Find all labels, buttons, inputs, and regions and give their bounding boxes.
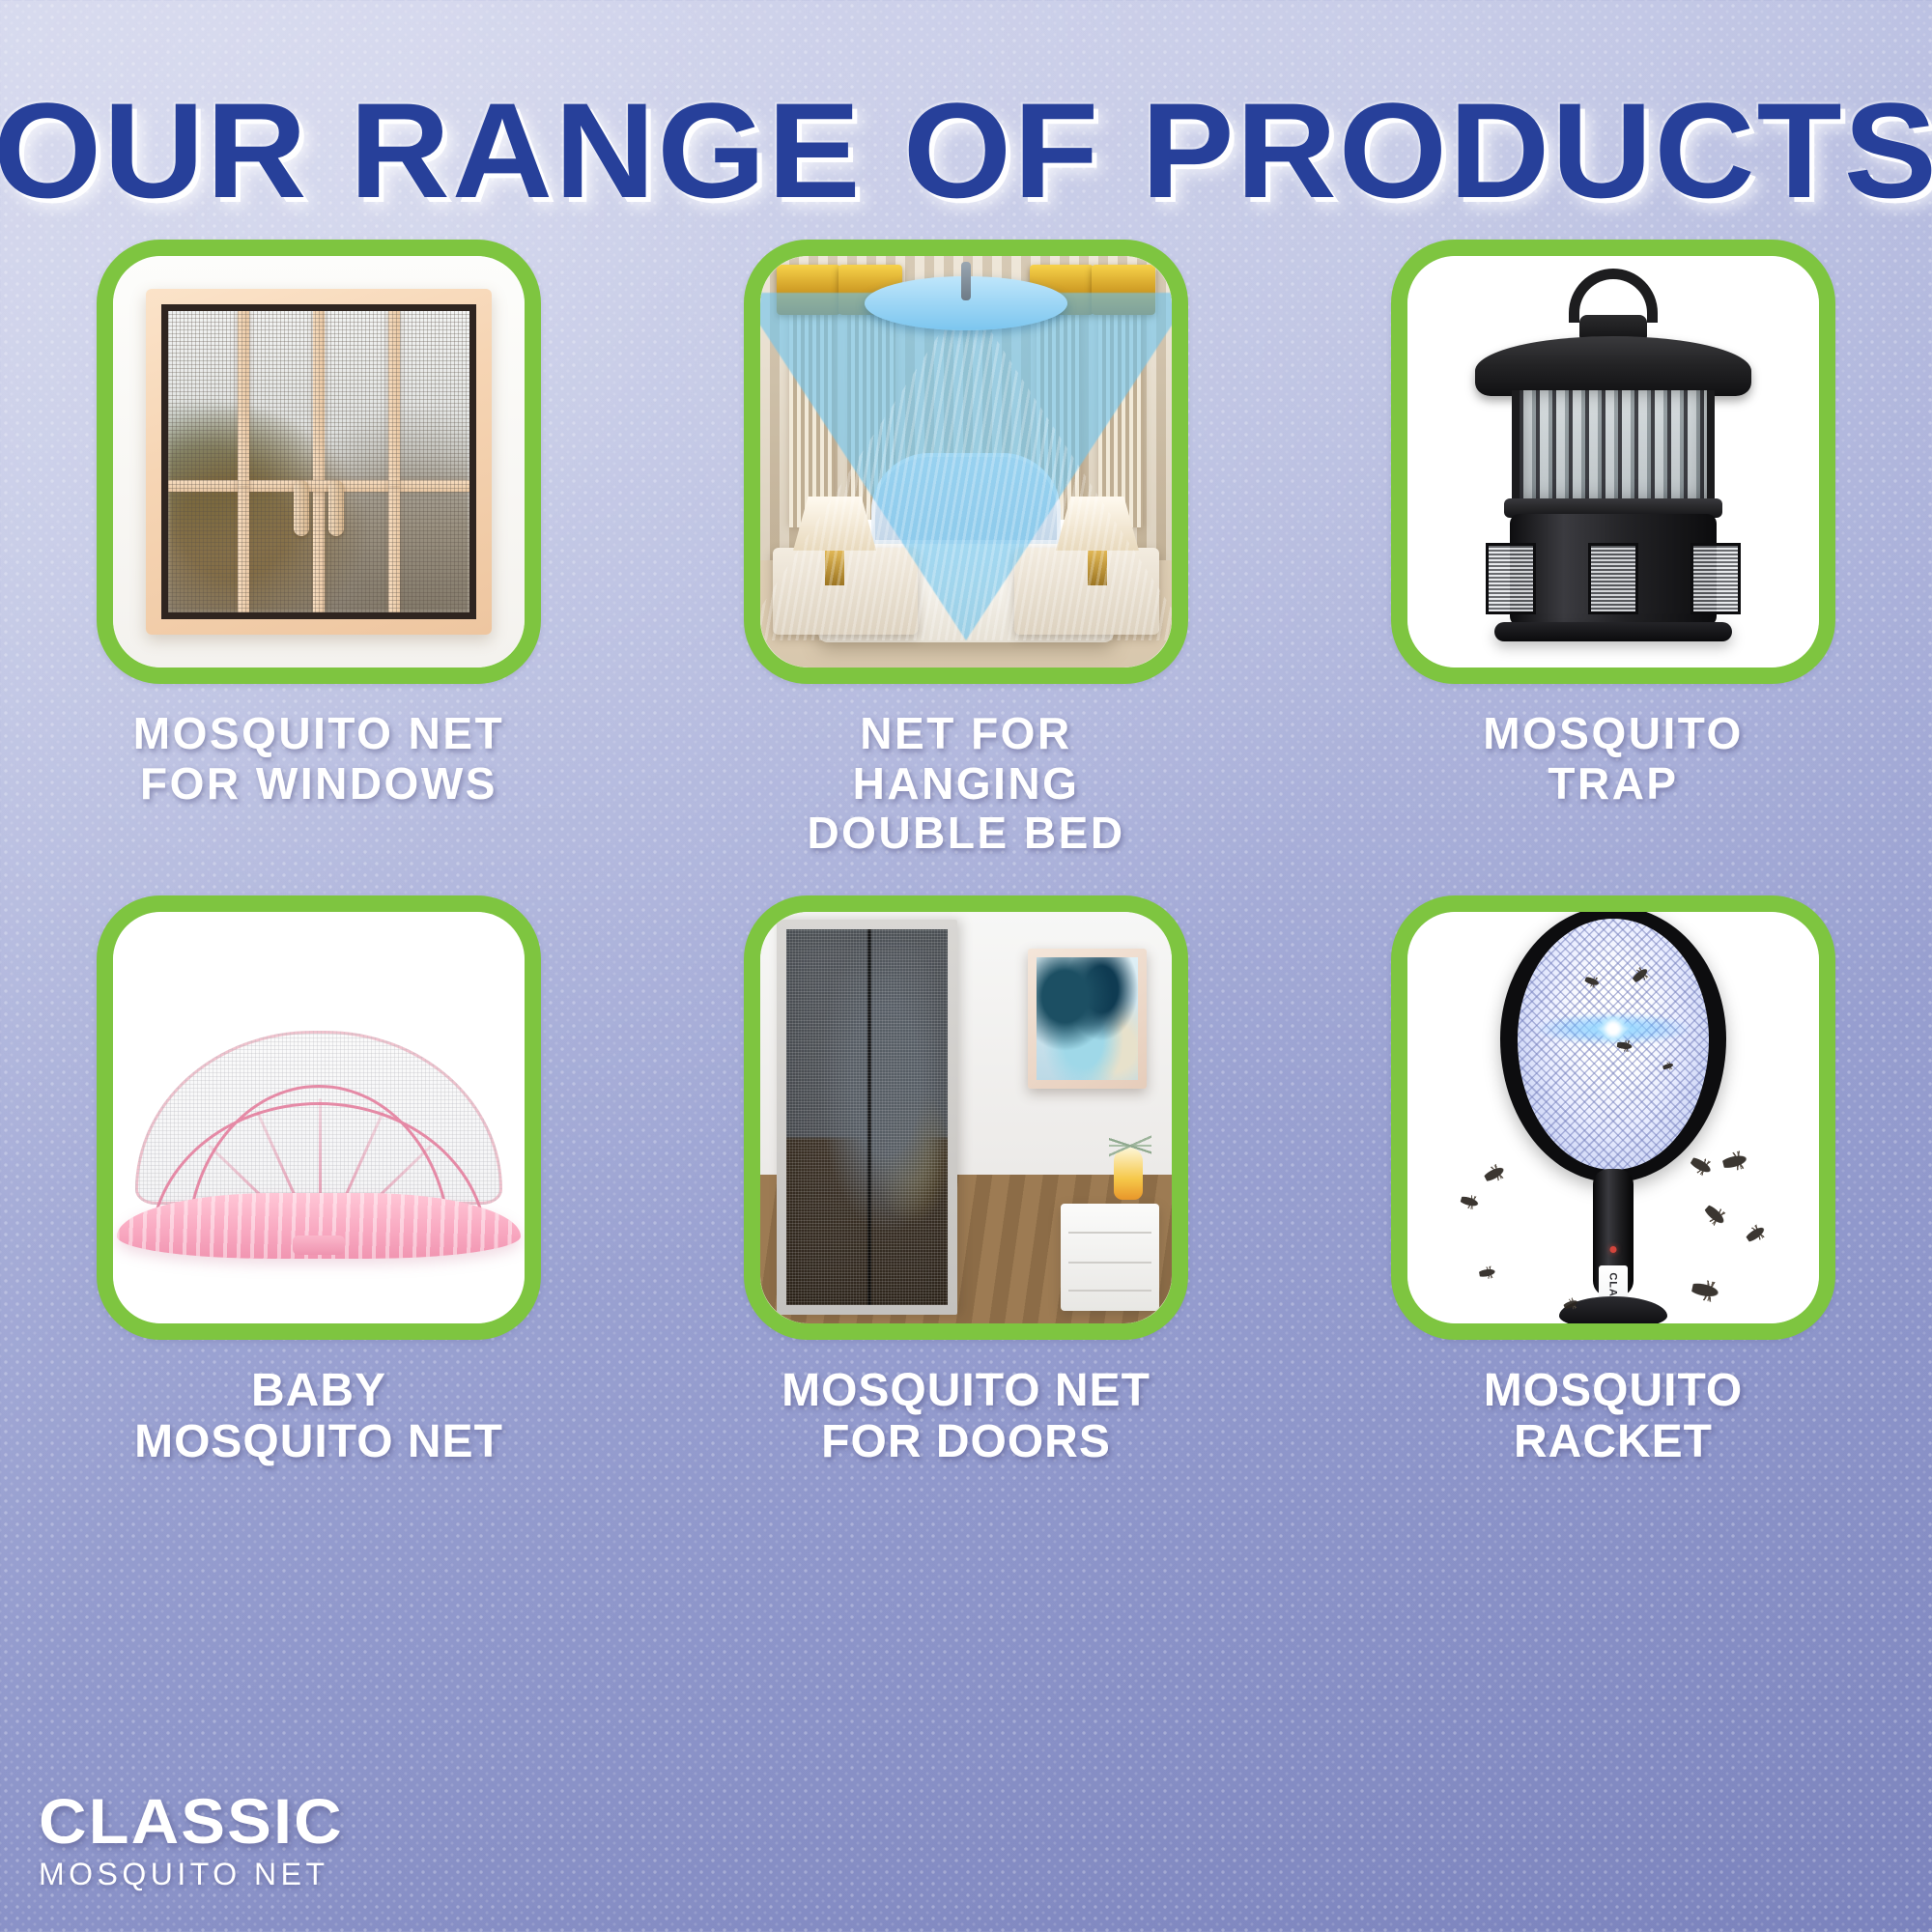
- product-card-racket[interactable]: CLASSIC: [1391, 895, 1835, 1340]
- product-image-window: [113, 256, 525, 668]
- baby-net-dome: [135, 1031, 502, 1253]
- product-row-2: BABY MOSQUITO NET: [97, 895, 1835, 1469]
- product-image-baby-net: [113, 912, 525, 1323]
- product-caption: MOSQUITO RACKET: [1484, 1365, 1743, 1469]
- product-caption: BABY MOSQUITO NET: [134, 1365, 503, 1469]
- product-image-hanging-bed: [760, 256, 1172, 668]
- product-caption: MOSQUITO NET FOR DOORS: [781, 1365, 1151, 1469]
- product-card-hanging-bed[interactable]: [744, 240, 1188, 684]
- product-caption: MOSQUITO TRAP: [1483, 709, 1744, 809]
- product-caption: MOSQUITO NET FOR WINDOWS: [133, 709, 504, 809]
- product-image-door-net: [760, 912, 1172, 1323]
- brand-logo: CLASSIC MOSQUITO NET: [39, 1789, 332, 1889]
- product-cell-racket[interactable]: CLASSIC: [1391, 895, 1835, 1469]
- product-card-trap[interactable]: [1391, 240, 1835, 684]
- product-card-window[interactable]: [97, 240, 541, 684]
- product-image-racket: CLASSIC: [1407, 912, 1819, 1323]
- product-cell-hanging-bed[interactable]: NET FOR HANGING DOUBLE BED: [744, 240, 1188, 859]
- product-image-trap: [1407, 256, 1819, 668]
- product-cell-window[interactable]: MOSQUITO NET FOR WINDOWS: [97, 240, 541, 859]
- page-title: OUR RANGE OF PRODUCTS: [0, 83, 1932, 218]
- product-cell-trap[interactable]: MOSQUITO TRAP: [1391, 240, 1835, 859]
- product-card-baby-net[interactable]: [97, 895, 541, 1340]
- product-cell-door-net[interactable]: MOSQUITO NET FOR DOORS: [744, 895, 1188, 1469]
- mosquito-racket-device: CLASSIC: [1468, 912, 1758, 1312]
- product-row-1: MOSQUITO NET FOR WINDOWS: [97, 240, 1835, 859]
- product-card-door-net[interactable]: [744, 895, 1188, 1340]
- product-caption: NET FOR HANGING DOUBLE BED: [744, 709, 1188, 859]
- product-cell-baby-net[interactable]: BABY MOSQUITO NET: [97, 895, 541, 1469]
- product-grid: MOSQUITO NET FOR WINDOWS: [97, 240, 1835, 1468]
- logo-tagline: MOSQUITO NET: [39, 1859, 332, 1889]
- poster-stage: OUR RANGE OF PRODUCTS: [0, 0, 1932, 1932]
- logo-brand-name: CLASSIC: [39, 1789, 344, 1853]
- mosquito-trap-device: [1468, 269, 1758, 655]
